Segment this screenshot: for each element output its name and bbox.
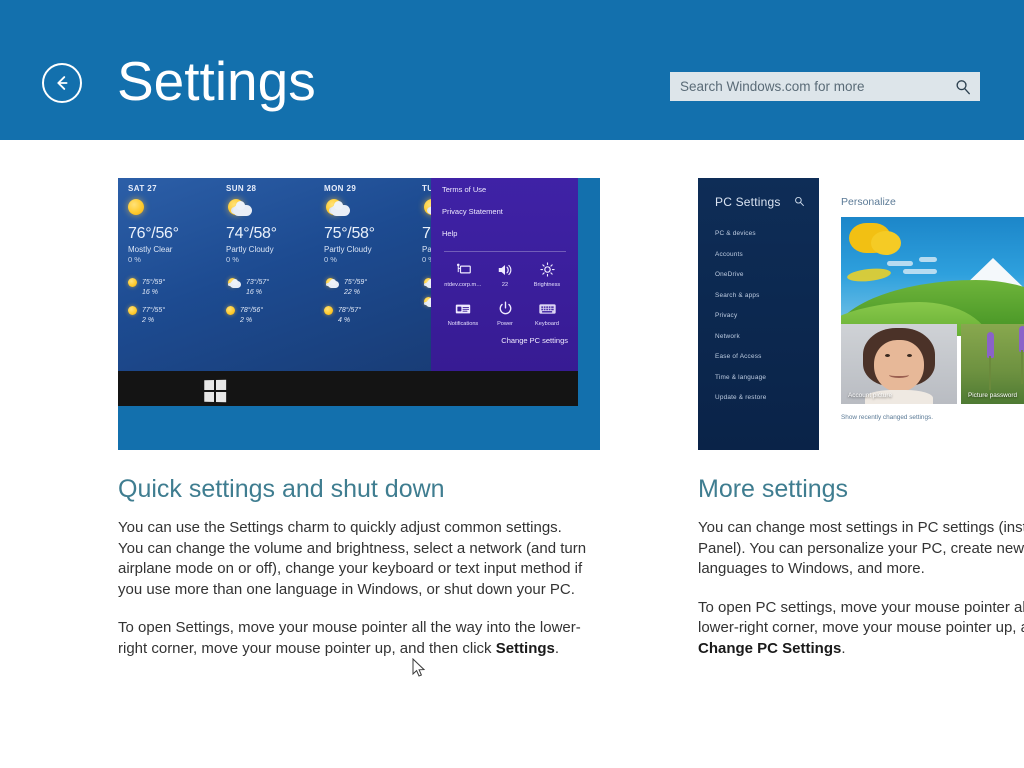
weather-sub-temp: 75°/59°	[344, 279, 367, 286]
personalize-tiles-row: Account picture Picture password	[841, 324, 1024, 404]
weather-subrow: 75°/59° 16 %	[128, 278, 224, 298]
sidebar-item-onedrive[interactable]: OneDrive	[715, 271, 819, 278]
search-box[interactable]	[670, 72, 980, 101]
figure-more-settings: PC Settings PC & devices Accounts OneDri…	[698, 178, 1024, 450]
lavender-graphic	[1019, 326, 1024, 352]
volume-icon	[497, 261, 513, 278]
card-paragraph-emphasis: Change PC Settings	[698, 640, 841, 657]
sidebar-item-privacy[interactable]: Privacy	[715, 312, 819, 319]
sun-icon	[226, 306, 235, 315]
partly-cloudy-icon	[226, 278, 241, 289]
card-paragraph-period: .	[555, 640, 559, 657]
sun-icon	[128, 306, 137, 315]
weather-temp: 74°/58°	[226, 225, 322, 243]
weather-precip: 0 %	[128, 255, 224, 264]
charms-tile-label: Keyboard	[535, 321, 559, 327]
sidebar-item-pc-and-devices[interactable]: PC & devices	[715, 230, 819, 237]
weather-subrow: 78°/57° 4 %	[324, 306, 420, 326]
sidebar-item-ease-of-access[interactable]: Ease of Access	[715, 353, 819, 360]
app-header: Settings	[0, 0, 1024, 140]
field-graphic	[846, 267, 891, 284]
sidebar-item-time-and-language[interactable]: Time & language	[715, 374, 819, 381]
partly-cloudy-icon	[226, 199, 322, 221]
card-paragraph: You can change most settings in PC setti…	[698, 518, 1024, 580]
card-more-settings: PC Settings PC & devices Accounts OneDri…	[698, 178, 1024, 659]
charms-tile-label: ntdev.corp.m…	[444, 282, 482, 288]
weather-sub-precip: 22 %	[344, 289, 360, 296]
card-heading: More settings	[698, 474, 1024, 504]
card-paragraph-period: .	[841, 640, 845, 657]
sidebar-item-search-and-apps[interactable]: Search & apps	[715, 292, 819, 299]
tile-label: Account picture	[848, 392, 892, 399]
tile-lock-screen[interactable]: Lock screen	[841, 217, 1024, 336]
charms-tile-label: 22	[502, 282, 508, 288]
charms-link-privacy[interactable]: Privacy Statement	[442, 207, 568, 216]
weather-precip: 0 %	[226, 255, 322, 264]
sun-icon	[324, 306, 333, 315]
partly-cloudy-icon	[324, 199, 420, 221]
sidebar-item-network[interactable]: Network	[715, 333, 819, 340]
weather-sub-temp: 73°/57°	[246, 279, 269, 286]
partly-cloudy-icon	[324, 278, 339, 289]
weather-precip: 0 %	[324, 255, 420, 264]
keyboard-icon	[539, 300, 556, 317]
card-paragraph-emphasis: Settings	[496, 640, 555, 657]
figure-quick-settings: SAT 27 76°/56° Mostly Clear 0 % 75°/59° …	[118, 178, 600, 450]
weather-day-column: SAT 27 76°/56° Mostly Clear 0 % 75°/59° …	[128, 184, 224, 326]
pc-settings-sidebar: PC Settings PC & devices Accounts OneDri…	[698, 178, 819, 450]
weather-sub-precip: 2 %	[142, 317, 154, 324]
charms-tile-label: Brightness	[534, 282, 560, 288]
back-arrow-icon	[51, 72, 73, 94]
weather-sub-temp: 75°/59°	[142, 279, 165, 286]
charms-tile-keyboard[interactable]: Keyboard	[526, 300, 568, 327]
weather-condition: Mostly Clear	[128, 245, 224, 254]
sidebar-item-update-and-restore[interactable]: Update & restore	[715, 394, 819, 401]
power-icon	[498, 300, 513, 317]
weather-sub-temp: 78°/57°	[338, 307, 361, 314]
weather-day-label: SAT 27	[128, 184, 224, 193]
charms-tile-label: Power	[497, 321, 513, 327]
weather-sub-precip: 16 %	[142, 289, 158, 296]
charms-tile-power[interactable]: Power	[484, 300, 526, 327]
cloud-graphic	[887, 261, 913, 266]
face-graphic	[874, 340, 924, 392]
weather-temp: 75°/58°	[324, 225, 420, 243]
pc-settings-main: Personalize	[819, 178, 1024, 450]
search-icon[interactable]	[794, 196, 805, 207]
weather-condition: Partly Cloudy	[226, 245, 322, 254]
weather-sub-precip: 16 %	[246, 289, 262, 296]
tablet-bezel	[118, 371, 578, 406]
eye-graphic	[885, 354, 890, 357]
charms-tile-grid: ntdev.corp.m… 22	[442, 261, 568, 327]
lavender-graphic	[987, 332, 994, 358]
tile-account-picture[interactable]: Account picture	[841, 324, 957, 404]
weather-day-label: SUN 28	[226, 184, 322, 193]
weather-condition: Partly Cloudy	[324, 245, 420, 254]
change-pc-settings-link[interactable]: Change PC settings	[501, 336, 568, 345]
charms-settings-panel: Terms of Use Privacy Statement Help	[431, 178, 578, 371]
tile-picture-password[interactable]: Picture password	[961, 324, 1024, 404]
search-input[interactable]	[680, 79, 954, 94]
eye-graphic	[907, 354, 912, 357]
weather-day-column: MON 29 75°/58° Partly Cloudy 0 % 75°/59°…	[324, 184, 420, 326]
pc-settings-window: PC Settings PC & devices Accounts OneDri…	[698, 178, 1024, 450]
weather-sub-temp: 77°/55°	[142, 307, 165, 314]
pc-settings-nav: PC & devices Accounts OneDrive Search & …	[715, 230, 819, 401]
tile-label: Picture password	[968, 392, 1017, 399]
weather-subrow: 77°/55° 2 %	[128, 306, 224, 326]
sun-icon	[128, 278, 137, 287]
card-paragraph: To open PC settings, move your mouse poi…	[698, 598, 1024, 660]
charms-link-terms[interactable]: Terms of Use	[442, 185, 568, 194]
charms-link-help[interactable]: Help	[442, 229, 568, 238]
weather-sub-temp: 78°/56°	[240, 307, 263, 314]
back-button[interactable]	[42, 63, 82, 103]
network-icon	[456, 261, 471, 278]
weather-sub-precip: 4 %	[338, 317, 350, 324]
windows-logo-icon[interactable]	[204, 380, 226, 402]
card-heading: Quick settings and shut down	[118, 474, 600, 504]
weather-day-label: MON 29	[324, 184, 420, 193]
tablet-frame: SAT 27 76°/56° Mostly Clear 0 % 75°/59° …	[118, 178, 578, 406]
page-title: Settings	[117, 48, 316, 114]
search-icon[interactable]	[954, 78, 972, 96]
sun-icon	[128, 199, 224, 221]
weather-day-column: SUN 28 74°/58° Partly Cloudy 0 % 73°/57°…	[226, 184, 322, 326]
weather-sub-precip: 2 %	[240, 317, 252, 324]
content-area: SAT 27 76°/56° Mostly Clear 0 % 75°/59° …	[0, 140, 1024, 768]
show-recently-changed-settings-link[interactable]: Show recently changed settings.	[841, 414, 933, 421]
mouth-graphic	[889, 372, 909, 378]
sun-graphic	[849, 223, 891, 253]
personalize-title: Personalize	[841, 196, 1024, 208]
card-paragraph: You can use the Settings charm to quickl…	[118, 518, 588, 600]
weather-subrow: 75°/59° 22 %	[324, 278, 420, 298]
sidebar-item-accounts[interactable]: Accounts	[715, 251, 819, 258]
weather-subrow: 78°/56° 2 %	[226, 306, 322, 326]
card-paragraph: To open Settings, move your mouse pointe…	[118, 618, 588, 659]
charms-tile-label: Notifications	[448, 321, 478, 327]
divider	[444, 251, 566, 252]
charms-tile-notifications[interactable]: Notifications	[442, 300, 484, 327]
card-paragraph-text: To open PC settings, move your mouse poi…	[698, 599, 1024, 637]
card-quick-settings: SAT 27 76°/56° Mostly Clear 0 % 75°/59° …	[118, 178, 600, 659]
notifications-icon	[455, 300, 471, 317]
tablet-screen: SAT 27 76°/56° Mostly Clear 0 % 75°/59° …	[118, 178, 578, 371]
charms-tile-brightness[interactable]: Brightness	[526, 261, 568, 288]
brightness-icon	[540, 261, 555, 278]
charms-tile-network[interactable]: ntdev.corp.m…	[442, 261, 484, 288]
weather-subrow: 73°/57° 16 %	[226, 278, 322, 298]
charms-tile-volume[interactable]: 22	[484, 261, 526, 288]
weather-temp: 76°/56°	[128, 225, 224, 243]
